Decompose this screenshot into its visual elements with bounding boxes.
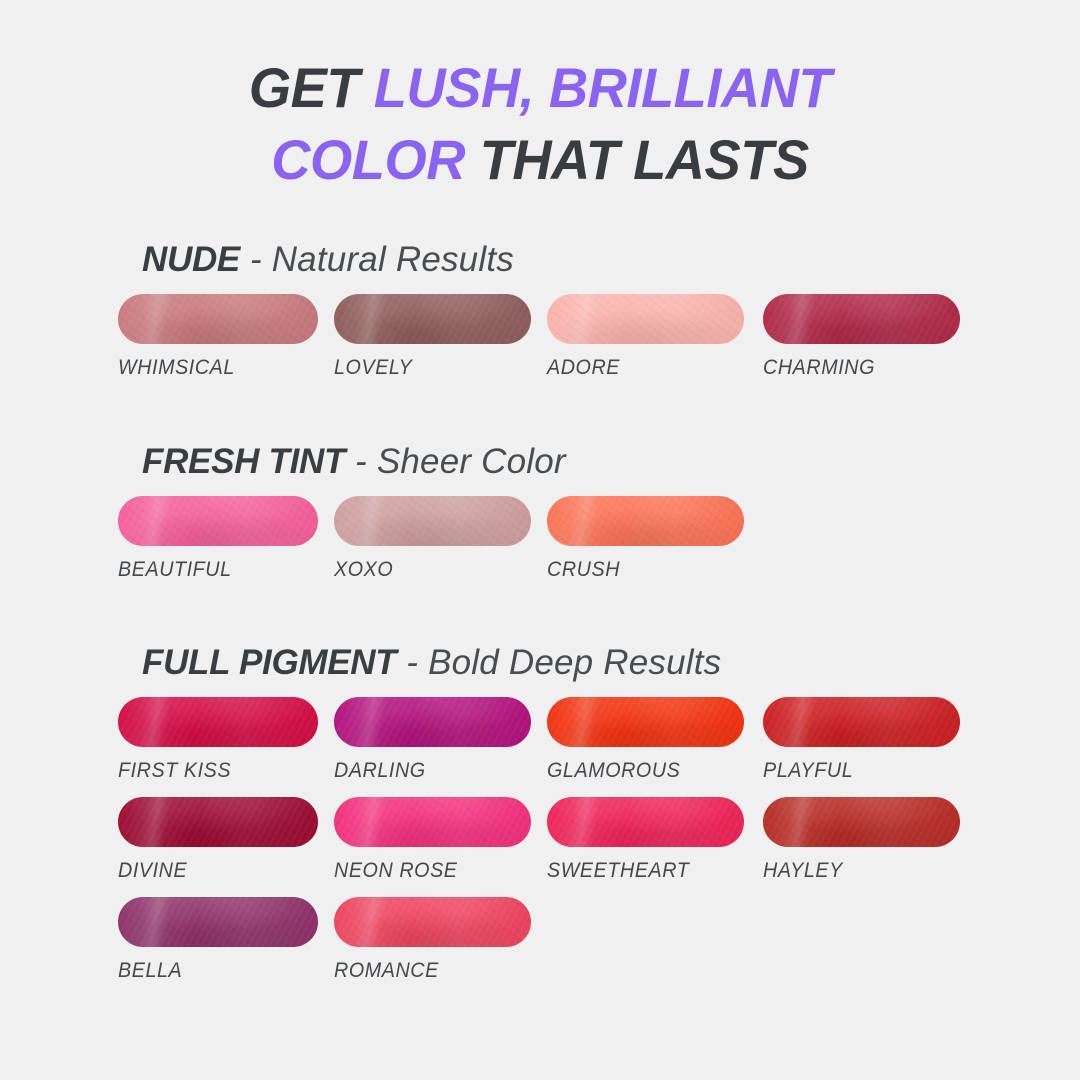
swatch-row: FIRST KISS DARLING GLAMOROUS bbox=[0, 697, 1080, 797]
swatch-color-divine[interactable] bbox=[118, 797, 318, 847]
page-title-line-2: COLOR THAT LASTS bbox=[16, 124, 1064, 196]
swatch-edge bbox=[547, 797, 744, 847]
swatch-label: DARLING bbox=[334, 759, 519, 783]
swatch-label: PLAYFUL bbox=[763, 759, 948, 783]
swatch-cell-playful[interactable]: PLAYFUL bbox=[763, 697, 960, 783]
swatch-label: FIRST KISS bbox=[118, 759, 306, 783]
swatch-edge bbox=[334, 294, 531, 344]
swatch-label: ROMANCE bbox=[334, 959, 519, 983]
swatch-color-neon-rose[interactable] bbox=[334, 797, 531, 847]
page-title-part-lush-brilliant: LUSH, BRILLIANT bbox=[374, 56, 831, 119]
swatch-color-hayley[interactable] bbox=[763, 797, 960, 847]
swatch-color-whimsical[interactable] bbox=[118, 294, 318, 344]
swatch-label: CHARMING bbox=[763, 356, 948, 380]
swatch-cell-neon-rose[interactable]: NEON ROSE bbox=[334, 797, 531, 883]
swatch-color-beautiful[interactable] bbox=[118, 496, 318, 546]
swatch-color-sweetheart[interactable] bbox=[547, 797, 744, 847]
swatch-cell-hayley[interactable]: HAYLEY bbox=[763, 797, 960, 883]
section-heading-fresh-tint: FRESH TINT - Sheer Color bbox=[142, 442, 1080, 482]
page-title-part-that-lasts: THAT LASTS bbox=[480, 128, 809, 191]
section-description: - Natural Results bbox=[240, 240, 514, 279]
section-name: NUDE bbox=[142, 240, 240, 279]
swatch-cell-xoxo[interactable]: XOXO bbox=[334, 496, 531, 582]
swatch-label: ADORE bbox=[547, 356, 732, 380]
swatch-cell-charming[interactable]: CHARMING bbox=[763, 294, 960, 380]
swatch-label: GLAMOROUS bbox=[547, 759, 732, 783]
swatch-cell-crush[interactable]: CRUSH bbox=[547, 496, 744, 582]
page-title-line-1: GET LUSH, BRILLIANT bbox=[16, 52, 1064, 124]
swatch-label: DIVINE bbox=[118, 859, 306, 883]
swatch-color-romance[interactable] bbox=[334, 897, 531, 947]
swatch-label: NEON ROSE bbox=[334, 859, 519, 883]
swatch-edge bbox=[334, 496, 531, 546]
swatch-label: HAYLEY bbox=[763, 859, 948, 883]
swatch-color-darling[interactable] bbox=[334, 697, 531, 747]
section-description: - Sheer Color bbox=[345, 442, 566, 481]
swatch-cell-darling[interactable]: DARLING bbox=[334, 697, 531, 783]
swatch-edge bbox=[763, 697, 960, 747]
section-description: - Bold Deep Results bbox=[396, 643, 721, 682]
swatch-edge bbox=[118, 496, 318, 546]
swatch-edge bbox=[547, 496, 744, 546]
swatch-cell-beautiful[interactable]: BEAUTIFUL bbox=[118, 496, 318, 582]
page-title-part-get: GET bbox=[249, 56, 374, 119]
swatch-color-glamorous[interactable] bbox=[547, 697, 744, 747]
section-name: FULL PIGMENT bbox=[142, 643, 396, 682]
swatch-cell-romance[interactable]: ROMANCE bbox=[334, 897, 531, 983]
swatch-edge bbox=[118, 697, 318, 747]
swatch-label: BELLA bbox=[118, 959, 306, 983]
swatch-row: WHIMSICAL LOVELY ADORE CHARMI bbox=[0, 294, 1080, 394]
page-title-part-color: COLOR bbox=[271, 128, 479, 191]
swatch-label: WHIMSICAL bbox=[118, 356, 306, 380]
swatch-edge bbox=[118, 797, 318, 847]
section-nude: NUDE - Natural Results WHIMSICAL LOVELY bbox=[0, 240, 1080, 394]
swatch-edge bbox=[334, 697, 531, 747]
swatch-edge bbox=[334, 797, 531, 847]
swatch-cell-whimsical[interactable]: WHIMSICAL bbox=[118, 294, 318, 380]
swatch-row: DIVINE NEON ROSE SWEETHEART H bbox=[0, 797, 1080, 897]
swatch-label: CRUSH bbox=[547, 558, 732, 582]
swatch-label: BEAUTIFUL bbox=[118, 558, 306, 582]
swatch-color-xoxo[interactable] bbox=[334, 496, 531, 546]
swatch-edge bbox=[547, 294, 744, 344]
swatch-label: SWEETHEART bbox=[547, 859, 732, 883]
swatch-edge bbox=[118, 897, 318, 947]
section-heading-full-pigment: FULL PIGMENT - Bold Deep Results bbox=[142, 643, 1080, 683]
swatch-label: XOXO bbox=[334, 558, 519, 582]
swatch-edge bbox=[763, 294, 960, 344]
swatch-color-adore[interactable] bbox=[547, 294, 744, 344]
swatch-cell-first-kiss[interactable]: FIRST KISS bbox=[118, 697, 318, 783]
swatch-cell-adore[interactable]: ADORE bbox=[547, 294, 744, 380]
swatch-color-lovely[interactable] bbox=[334, 294, 531, 344]
swatch-cell-divine[interactable]: DIVINE bbox=[118, 797, 318, 883]
swatch-color-charming[interactable] bbox=[763, 294, 960, 344]
swatch-color-bella[interactable] bbox=[118, 897, 318, 947]
swatch-edge bbox=[118, 294, 318, 344]
swatch-row: BELLA ROMANCE bbox=[0, 897, 1080, 997]
swatch-color-crush[interactable] bbox=[547, 496, 744, 546]
swatch-cell-sweetheart[interactable]: SWEETHEART bbox=[547, 797, 744, 883]
swatch-edge bbox=[763, 797, 960, 847]
swatch-cell-glamorous[interactable]: GLAMOROUS bbox=[547, 697, 744, 783]
swatch-cell-lovely[interactable]: LOVELY bbox=[334, 294, 531, 380]
swatch-color-first-kiss[interactable] bbox=[118, 697, 318, 747]
section-heading-nude: NUDE - Natural Results bbox=[142, 240, 1080, 280]
swatch-label: LOVELY bbox=[334, 356, 519, 380]
section-fresh-tint: FRESH TINT - Sheer Color BEAUTIFUL XOXO bbox=[0, 442, 1080, 596]
swatch-row: BEAUTIFUL XOXO CRUSH bbox=[0, 496, 1080, 596]
swatch-color-playful[interactable] bbox=[763, 697, 960, 747]
section-name: FRESH TINT bbox=[142, 442, 345, 481]
swatch-edge bbox=[334, 897, 531, 947]
swatch-cell-bella[interactable]: BELLA bbox=[118, 897, 318, 983]
swatch-edge bbox=[547, 697, 744, 747]
page-title: GET LUSH, BRILLIANT COLOR THAT LASTS bbox=[16, 52, 1064, 195]
section-full-pigment: FULL PIGMENT - Bold Deep Results FIRST K… bbox=[0, 643, 1080, 997]
